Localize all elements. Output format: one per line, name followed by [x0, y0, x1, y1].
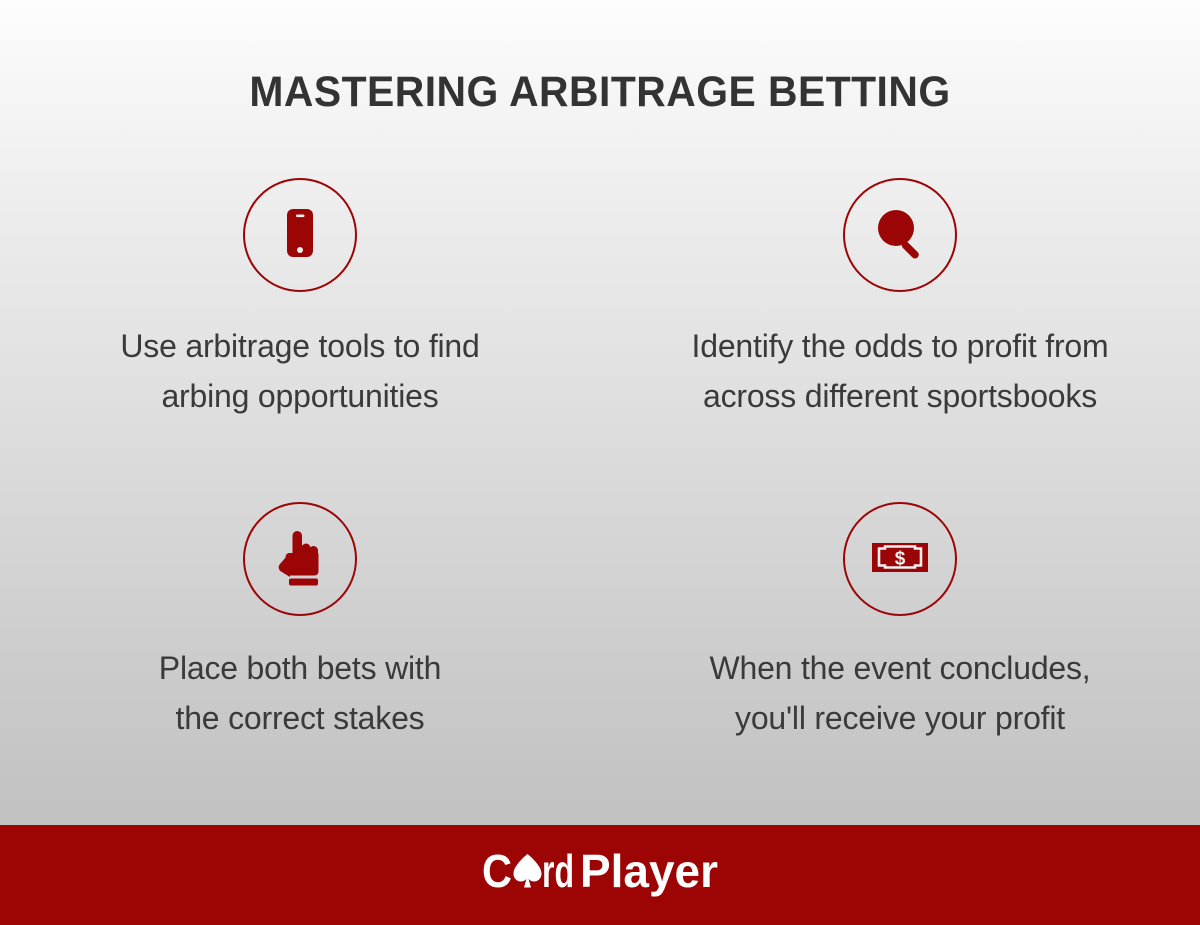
step-3-icon-circle	[243, 502, 357, 616]
step-2-icon-circle	[843, 178, 957, 292]
svg-text:Player: Player	[580, 845, 718, 897]
step-2-caption: Identify the odds to profit from across …	[692, 322, 1109, 422]
step-1-caption: Use arbitrage tools to find arbing oppor…	[120, 322, 479, 422]
step-4-icon-circle: $	[843, 502, 957, 616]
card-player-logo[interactable]: C rd Player	[482, 845, 718, 906]
pointing-hand-icon	[268, 525, 332, 594]
smartphone-icon	[268, 201, 332, 270]
step-card-4: $ When the event concludes, you'll recei…	[600, 490, 1200, 810]
step-3-caption: Place both bets with the correct stakes	[159, 644, 441, 744]
svg-text:rd: rd	[542, 845, 574, 897]
step-4-caption: When the event concludes, you'll receive…	[709, 644, 1090, 744]
banknote-dollar-icon: $	[868, 525, 932, 594]
svg-text:$: $	[895, 548, 906, 569]
steps-grid: Use arbitrage tools to find arbing oppor…	[0, 170, 1200, 810]
infographic-canvas: Mastering Arbitrage Betting Use arbitrag…	[0, 0, 1200, 925]
step-card-1: Use arbitrage tools to find arbing oppor…	[0, 170, 600, 490]
step-1-icon-circle	[243, 178, 357, 292]
step-card-3: Place both bets with the correct stakes	[0, 490, 600, 810]
footer-bar: C rd Player	[0, 825, 1200, 925]
magnifying-glass-icon	[868, 201, 932, 270]
svg-text:C: C	[482, 845, 512, 897]
page-title: Mastering Arbitrage Betting	[30, 68, 1170, 117]
step-card-2: Identify the odds to profit from across …	[600, 170, 1200, 490]
